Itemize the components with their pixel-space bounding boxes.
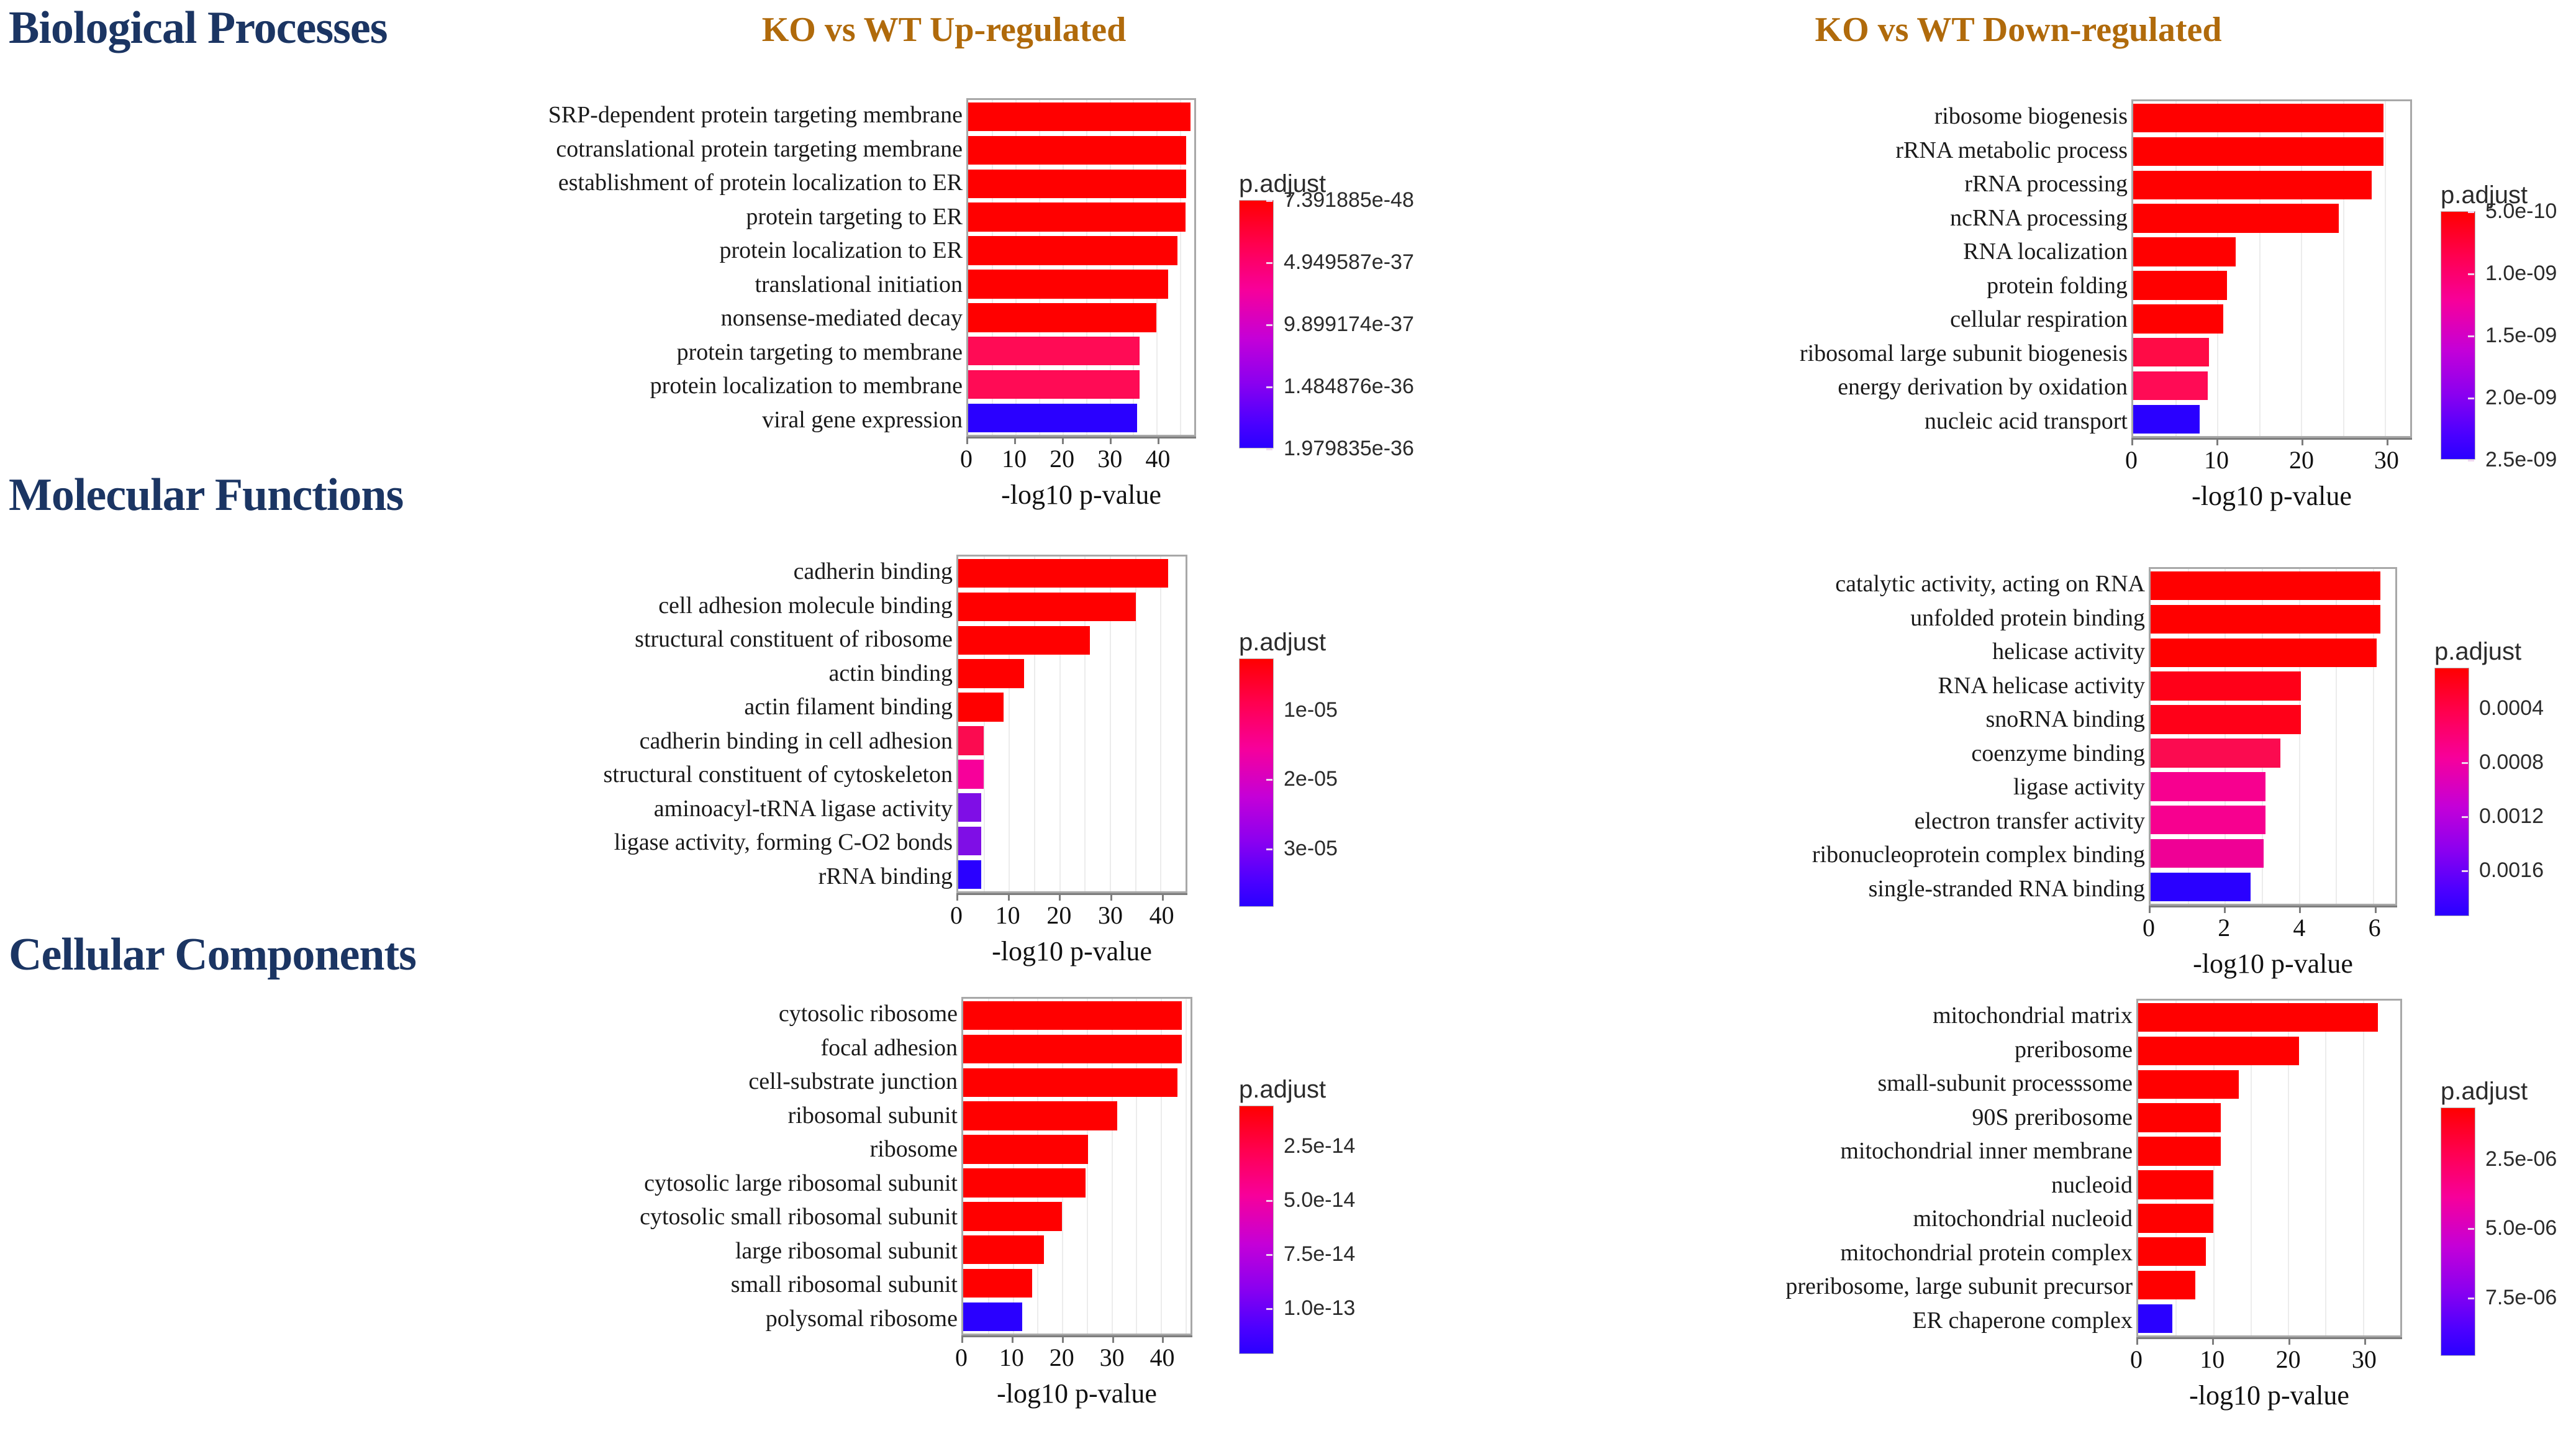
- category-label: actin binding: [37, 657, 953, 691]
- category-label: RNA localization: [1212, 235, 2128, 269]
- chart-panel-bp_up: SRP-dependent protein targeting membrane…: [966, 98, 1196, 437]
- category-label: cytosolic small ribosomal subunit: [42, 1200, 958, 1234]
- legend-value-label: 0.0008: [2479, 752, 2544, 773]
- bar-series: [2138, 1001, 2400, 1335]
- category-label: ribosome biogenesis: [1212, 99, 2128, 134]
- x-tick-label: 2: [2218, 916, 2230, 940]
- bar-row: [2138, 1302, 2400, 1335]
- bar-row: [963, 1233, 1190, 1266]
- bar: [2151, 873, 2251, 901]
- category-label: single-stranded RNA binding: [1230, 872, 2145, 906]
- bar: [2133, 104, 2383, 132]
- category-label: cell-substrate junction: [42, 1065, 958, 1099]
- category-label: ER chaperone complex: [1217, 1304, 2133, 1338]
- bar-row: [2133, 302, 2410, 335]
- category-label: focal adhesion: [42, 1031, 958, 1065]
- legend-tick: [2468, 1228, 2474, 1230]
- bar: [2133, 237, 2236, 266]
- x-tick-label: 20: [2276, 1347, 2301, 1372]
- bar: [963, 1235, 1044, 1264]
- x-tick-label: 0: [960, 447, 973, 471]
- bar: [963, 1269, 1032, 1298]
- category-label: rRNA binding: [37, 860, 953, 894]
- plot-area: [961, 997, 1192, 1335]
- category-label: helicase activity: [1230, 635, 2145, 669]
- category-label: actin filament binding: [37, 690, 953, 724]
- section-title-cellular-components: Cellular Components: [9, 932, 416, 978]
- bar: [2133, 137, 2383, 166]
- bar: [968, 136, 1186, 165]
- bar: [2133, 204, 2339, 232]
- category-label: ribonucleoprotein complex binding: [1230, 838, 2145, 872]
- legend-tick: [2462, 816, 2468, 818]
- bar-row: [963, 1032, 1190, 1066]
- bar-row: [958, 791, 1186, 824]
- category-label: structural constituent of cytoskeleton: [37, 758, 953, 792]
- bar: [2133, 371, 2208, 400]
- bar-row: [963, 1300, 1190, 1334]
- bar: [958, 659, 1024, 688]
- bar: [958, 860, 981, 889]
- plot-area: [2149, 567, 2397, 906]
- legend-value-label: 1.979835e-36: [1284, 438, 1414, 459]
- x-tick-label: 20: [1050, 447, 1074, 471]
- legend-cc_down: p.adjust2.5e-065.0e-067.5e-06: [2441, 1107, 2576, 1393]
- x-tick-label: 20: [1050, 1345, 1074, 1370]
- plot-area: [2131, 99, 2412, 438]
- legend-mf_down: p.adjust0.00040.00080.00120.0016: [2434, 668, 2576, 953]
- category-label: cadherin binding in cell adhesion: [37, 724, 953, 758]
- bar-row: [963, 1099, 1190, 1133]
- bar: [963, 1101, 1117, 1130]
- bar: [963, 1302, 1022, 1331]
- bar-row: [958, 691, 1186, 724]
- category-label: mitochondrial inner membrane: [1217, 1134, 2133, 1168]
- x-axis-title: -log10 p-value: [961, 1380, 1192, 1407]
- bar: [2151, 806, 2265, 834]
- bar: [2133, 171, 2372, 199]
- bar-row: [2138, 1001, 2400, 1034]
- category-label: electron transfer activity: [1230, 804, 2145, 839]
- bar: [2138, 1237, 2206, 1266]
- category-label: translational initiation: [47, 268, 963, 302]
- bar-row: [2133, 202, 2410, 235]
- legend-tick: [2462, 870, 2468, 872]
- bar: [2151, 639, 2377, 667]
- legend-title: p.adjust: [2441, 1079, 2528, 1104]
- legend-tick: [2468, 335, 2474, 337]
- category-label: snoRNA binding: [1230, 702, 2145, 737]
- legend-value-label: 2.5e-09: [2485, 449, 2557, 470]
- chart-panel-cc_up: cytosolic ribosomefocal adhesioncell-sub…: [961, 997, 1192, 1335]
- x-tick-label: 30: [1098, 903, 1123, 928]
- category-label-list: catalytic activity, acting on RNAunfolde…: [1230, 567, 2149, 906]
- bar-row: [968, 401, 1194, 435]
- bar: [958, 726, 984, 755]
- category-label: ribosomal subunit: [42, 1099, 958, 1133]
- legend-value-label: 0.0004: [2479, 698, 2544, 719]
- category-label: catalytic activity, acting on RNA: [1230, 567, 2145, 601]
- category-label: small-subunit processsome: [1217, 1066, 2133, 1101]
- category-label: cellular respiration: [1212, 302, 2128, 337]
- bar-row: [2138, 1101, 2400, 1135]
- bar: [2151, 839, 2264, 868]
- chart-panel-mf_up: cadherin bindingcell adhesion molecule b…: [956, 555, 1187, 893]
- bar-row: [968, 268, 1194, 301]
- column-title-down-regulated: KO vs WT Down-regulated: [1739, 12, 2298, 47]
- bar: [2151, 739, 2280, 767]
- bar: [2151, 705, 2301, 734]
- bar: [958, 793, 981, 822]
- bar-row: [2151, 569, 2395, 602]
- x-tick-label: 20: [1046, 903, 1071, 928]
- bar-row: [2151, 870, 2395, 904]
- bar: [963, 1135, 1088, 1163]
- bar-row: [958, 858, 1186, 891]
- category-label: mitochondrial matrix: [1217, 999, 2133, 1033]
- bar: [2133, 338, 2209, 366]
- bar-row: [963, 1199, 1190, 1233]
- category-label: viral gene expression: [47, 403, 963, 437]
- bar-row: [968, 134, 1194, 167]
- x-tick-label: 30: [2374, 448, 2399, 473]
- category-label: protein targeting to ER: [47, 200, 963, 234]
- category-label: cotranslational protein targeting membra…: [47, 132, 963, 166]
- bar-row: [958, 590, 1186, 624]
- bar: [963, 1168, 1086, 1197]
- legend-value-label: 0.0016: [2479, 860, 2544, 881]
- legend-tick: [2468, 398, 2474, 399]
- bar-row: [963, 999, 1190, 1032]
- category-label: ncRNA processing: [1212, 201, 2128, 235]
- bar: [968, 404, 1137, 432]
- x-tick-label: 0: [950, 903, 963, 928]
- plot-area: [966, 98, 1196, 437]
- legend-colorbar: [2434, 668, 2469, 916]
- category-label: unfolded protein binding: [1230, 601, 2145, 635]
- bar-row: [968, 334, 1194, 368]
- legend-value-label: 1.5e-09: [2485, 325, 2557, 346]
- legend-value-label: 5.0e-10: [2485, 201, 2557, 222]
- legend-tick: [2468, 1298, 2474, 1299]
- category-label: protein targeting to membrane: [47, 335, 963, 370]
- x-tick-label: 10: [2204, 448, 2229, 473]
- category-label: preribosome: [1217, 1033, 2133, 1067]
- category-label: cytosolic large ribosomal subunit: [42, 1166, 958, 1201]
- chart-panel-bp_down: ribosome biogenesisrRNA metabolic proces…: [2131, 99, 2412, 438]
- category-label: ligase activity, forming C-O2 bonds: [37, 825, 953, 860]
- bar-row: [958, 657, 1186, 691]
- bar: [958, 559, 1168, 588]
- legend-value-label: 0.0012: [2479, 806, 2544, 827]
- bar: [2151, 772, 2265, 801]
- column-title-up-regulated: KO vs WT Up-regulated: [720, 12, 1168, 47]
- chart-panel-cc_down: mitochondrial matrixpreribosomesmall-sub…: [2136, 999, 2402, 1337]
- bar-series: [2133, 101, 2410, 436]
- legend-value-label: 2.0e-09: [2485, 387, 2557, 408]
- x-tick-label: 10: [999, 1345, 1024, 1370]
- category-label: structural constituent of ribosome: [37, 622, 953, 657]
- bar: [2133, 405, 2200, 434]
- category-label-list: SRP-dependent protein targeting membrane…: [47, 98, 966, 437]
- bar: [2151, 571, 2380, 600]
- bar-row: [958, 757, 1186, 791]
- category-label: small ribosomal subunit: [42, 1268, 958, 1302]
- category-label-list: cadherin bindingcell adhesion molecule b…: [37, 555, 956, 893]
- x-tick-label: 40: [1150, 903, 1174, 928]
- bar: [958, 593, 1136, 621]
- category-label: large ribosomal subunit: [42, 1234, 958, 1268]
- category-label: aminoacyl-tRNA ligase activity: [37, 792, 953, 826]
- category-label: SRP-dependent protein targeting membrane: [47, 98, 963, 132]
- category-label: mitochondrial protein complex: [1217, 1236, 2133, 1270]
- category-label: rRNA metabolic process: [1212, 134, 2128, 168]
- bar: [2133, 304, 2223, 333]
- bar: [2138, 1037, 2299, 1065]
- bar: [2138, 1103, 2221, 1132]
- bar-row: [963, 1066, 1190, 1099]
- plot-area: [2136, 999, 2402, 1337]
- category-label: preribosome, large subunit precursor: [1217, 1270, 2133, 1304]
- bar: [958, 827, 981, 855]
- bar: [958, 760, 984, 788]
- bar: [968, 236, 1177, 265]
- x-tick-label: 30: [2352, 1347, 2377, 1372]
- x-tick-label: 4: [2293, 916, 2305, 940]
- bar-row: [2151, 703, 2395, 737]
- x-axis-title: -log10 p-value: [2149, 950, 2397, 978]
- legend-value-label: 7.5e-06: [2485, 1287, 2557, 1308]
- plot-area: [956, 555, 1187, 893]
- bar-row: [958, 557, 1186, 590]
- bar: [2138, 1137, 2221, 1165]
- category-label-list: mitochondrial matrixpreribosomesmall-sub…: [1217, 999, 2136, 1337]
- bar-row: [958, 824, 1186, 858]
- bar-row: [2133, 135, 2410, 168]
- bar: [968, 270, 1168, 298]
- bar-row: [2133, 101, 2410, 135]
- bar: [963, 1001, 1182, 1030]
- legend-value-label: 5.0e-06: [2485, 1217, 2557, 1239]
- x-tick-label: 40: [1145, 447, 1170, 471]
- x-axis-title: -log10 p-value: [966, 481, 1196, 509]
- x-axis-title: -log10 p-value: [956, 938, 1187, 965]
- x-tick-label: 0: [2143, 916, 2155, 940]
- category-label: cell adhesion molecule binding: [37, 589, 953, 623]
- bar: [2151, 605, 2380, 634]
- bar-row: [2151, 737, 2395, 770]
- x-axis-title: -log10 p-value: [2136, 1382, 2402, 1409]
- bar-row: [2138, 1268, 2400, 1302]
- bar-row: [968, 234, 1194, 268]
- bar: [2138, 1003, 2378, 1032]
- legend-value-label: 2.5e-06: [2485, 1148, 2557, 1170]
- x-axis-title: -log10 p-value: [2131, 483, 2412, 510]
- category-label: nucleoid: [1217, 1168, 2133, 1202]
- x-tick-label: 40: [1150, 1345, 1174, 1370]
- x-tick-label: 30: [1097, 447, 1122, 471]
- bar: [2138, 1204, 2213, 1232]
- bar: [968, 170, 1186, 198]
- legend-tick: [2462, 762, 2468, 764]
- bar: [2138, 1304, 2172, 1333]
- category-label: ligase activity: [1230, 770, 2145, 804]
- bar-row: [2138, 1201, 2400, 1235]
- bar: [958, 693, 1004, 721]
- bar: [2138, 1170, 2213, 1199]
- bar-series: [958, 557, 1186, 891]
- bar: [2138, 1070, 2239, 1099]
- bar: [968, 370, 1140, 399]
- bar-row: [958, 724, 1186, 758]
- bar: [968, 337, 1140, 365]
- bar: [963, 1202, 1062, 1230]
- legend-colorbar: [2441, 1107, 2475, 1356]
- bar-row: [2151, 670, 2395, 703]
- x-tick-label: 10: [995, 903, 1020, 928]
- category-label: protein localization to membrane: [47, 369, 963, 403]
- category-label: coenzyme binding: [1230, 737, 2145, 771]
- bar-row: [963, 1133, 1190, 1166]
- bar: [963, 1068, 1177, 1097]
- bar-row: [963, 1166, 1190, 1200]
- category-label: protein folding: [1212, 269, 2128, 303]
- x-tick-label: 6: [2369, 916, 2381, 940]
- bar-row: [2138, 1168, 2400, 1202]
- legend-tick: [2468, 211, 2474, 213]
- bar-row: [2151, 803, 2395, 837]
- bar-row: [2133, 235, 2410, 269]
- bar-row: [2151, 837, 2395, 870]
- legend-tick: [2468, 273, 2474, 275]
- category-label: rRNA processing: [1212, 167, 2128, 201]
- bar: [968, 102, 1190, 131]
- bar-row: [968, 100, 1194, 134]
- bar-row: [2133, 335, 2410, 369]
- chart-panel-mf_down: catalytic activity, acting on RNAunfolde…: [2149, 567, 2397, 906]
- bar-row: [2133, 269, 2410, 302]
- category-label: establishment of protein localization to…: [47, 166, 963, 200]
- bar-row: [2133, 402, 2410, 436]
- category-label: polysomal ribosome: [42, 1302, 958, 1336]
- bar: [958, 626, 1090, 655]
- category-label: ribosomal large subunit biogenesis: [1212, 337, 2128, 371]
- bar: [968, 202, 1186, 231]
- category-label: cadherin binding: [37, 555, 953, 589]
- bar: [968, 303, 1156, 332]
- category-label: ribosome: [42, 1132, 958, 1166]
- x-tick-label: 30: [1100, 1345, 1125, 1370]
- section-title-molecular-functions: Molecular Functions: [9, 472, 403, 518]
- bar: [2151, 671, 2301, 700]
- bar-series: [2151, 569, 2395, 904]
- bar-series: [968, 100, 1194, 435]
- bar-row: [2138, 1135, 2400, 1168]
- bar-row: [968, 167, 1194, 201]
- x-tick-label: 10: [1002, 447, 1027, 471]
- x-tick-label: 0: [2125, 448, 2138, 473]
- bar-row: [2151, 636, 2395, 670]
- bar-row: [2151, 602, 2395, 636]
- section-title-biological-processes: Biological Processes: [9, 5, 388, 51]
- bar-row: [963, 1266, 1190, 1300]
- legend-bp_down: p.adjust5.0e-101.0e-091.5e-092.0e-092.5e…: [2441, 211, 2576, 497]
- category-label-list: ribosome biogenesisrRNA metabolic proces…: [1212, 99, 2131, 438]
- bar-row: [2138, 1034, 2400, 1068]
- legend-value-label: 1.0e-09: [2485, 263, 2557, 284]
- category-label: protein localization to ER: [47, 234, 963, 268]
- bar-row: [968, 301, 1194, 334]
- x-tick-label: 20: [2289, 448, 2314, 473]
- bar-row: [958, 624, 1186, 657]
- bar: [2138, 1271, 2195, 1299]
- bar-row: [2151, 770, 2395, 803]
- x-tick-label: 0: [2130, 1347, 2143, 1372]
- x-tick-label: 10: [2200, 1347, 2225, 1372]
- bar-row: [2138, 1068, 2400, 1101]
- bar-row: [2138, 1235, 2400, 1268]
- category-label: nucleic acid transport: [1212, 404, 2128, 439]
- bar-row: [2133, 168, 2410, 202]
- legend-tick: [2468, 460, 2474, 461]
- bar-row: [968, 368, 1194, 401]
- x-tick-label: 0: [955, 1345, 968, 1370]
- bar: [2133, 271, 2227, 299]
- bar-row: [2133, 369, 2410, 402]
- category-label: energy derivation by oxidation: [1212, 370, 2128, 404]
- bar-row: [968, 201, 1194, 234]
- category-label: cytosolic ribosome: [42, 997, 958, 1031]
- category-label-list: cytosolic ribosomefocal adhesioncell-sub…: [42, 997, 961, 1335]
- category-label: RNA helicase activity: [1230, 669, 2145, 703]
- bar: [963, 1035, 1182, 1063]
- legend-tick: [1266, 448, 1272, 450]
- bar-series: [963, 999, 1190, 1334]
- legend-title: p.adjust: [2434, 639, 2521, 664]
- category-label: 90S preribosome: [1217, 1101, 2133, 1135]
- category-label: mitochondrial nucleoid: [1217, 1202, 2133, 1236]
- category-label: nonsense-mediated decay: [47, 301, 963, 335]
